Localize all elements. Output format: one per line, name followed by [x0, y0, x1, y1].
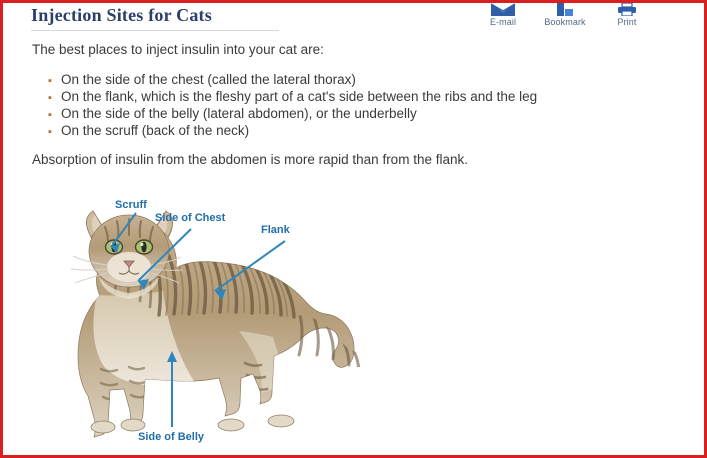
- list-item: ▪ On the side of the chest (called the l…: [48, 72, 658, 89]
- bullet-marker-icon: ▪: [48, 76, 61, 87]
- cat-injection-sites-figure: Scruff Side of Chest Flank Side of Belly: [33, 199, 378, 449]
- page-tools-toolbar: E-mail Bookmark Print: [481, 3, 649, 27]
- print-icon: [617, 3, 637, 16]
- print-button[interactable]: Print: [605, 3, 649, 27]
- figure-label-scruff: Scruff: [115, 199, 147, 211]
- bullet-marker-icon: ▪: [48, 110, 61, 121]
- bookmark-label: Bookmark: [544, 17, 585, 27]
- figure-label-flank: Flank: [261, 224, 290, 236]
- email-icon: [490, 3, 516, 16]
- intro-paragraph: The best places to inject insulin into y…: [32, 42, 324, 57]
- email-label: E-mail: [490, 17, 516, 27]
- list-item-label: On the scruff (back of the neck): [61, 123, 249, 138]
- bookmark-button[interactable]: Bookmark: [543, 3, 587, 27]
- injection-sites-list: ▪ On the side of the chest (called the l…: [48, 72, 658, 140]
- cat-illustration: [33, 199, 378, 449]
- page-title: Injection Sites for Cats: [31, 5, 212, 26]
- list-item-label: On the flank, which is the fleshy part o…: [61, 89, 537, 104]
- print-label: Print: [617, 17, 636, 27]
- list-item: ▪ On the scruff (back of the neck): [48, 123, 658, 140]
- page-frame: E-mail Bookmark Print: [0, 0, 707, 458]
- closing-paragraph: Absorption of insulin from the abdomen i…: [32, 152, 468, 167]
- list-item: ▪ On the flank, which is the fleshy part…: [48, 89, 658, 106]
- figure-label-side-of-belly: Side of Belly: [138, 431, 204, 443]
- bullet-marker-icon: ▪: [48, 127, 61, 138]
- bullet-marker-icon: ▪: [48, 93, 61, 104]
- list-item: ▪ On the side of the belly (lateral abdo…: [48, 106, 658, 123]
- list-item-label: On the side of the chest (called the lat…: [61, 72, 356, 87]
- figure-label-side-of-chest: Side of Chest: [155, 212, 225, 224]
- bookmark-icon: [555, 3, 575, 16]
- cat-body: [71, 211, 359, 437]
- email-button[interactable]: E-mail: [481, 3, 525, 27]
- list-item-label: On the side of the belly (lateral abdome…: [61, 106, 417, 121]
- title-divider: [31, 30, 279, 31]
